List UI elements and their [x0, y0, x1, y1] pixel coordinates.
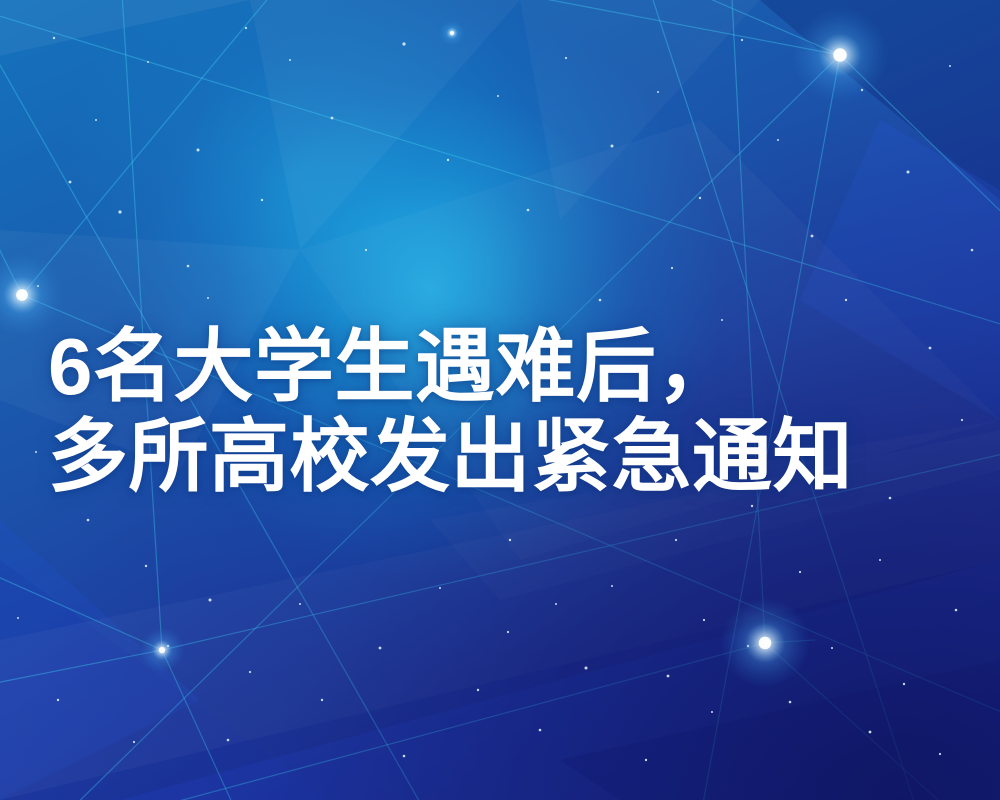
headline-line-1: 6名大学生遇难后，	[48, 322, 958, 412]
headline-line-2: 多所高校发出紧急通知	[48, 412, 958, 502]
headline-block: 6名大学生遇难后， 多所高校发出紧急通知	[48, 322, 958, 502]
headline-card: 6名大学生遇难后， 多所高校发出紧急通知	[0, 0, 1000, 800]
